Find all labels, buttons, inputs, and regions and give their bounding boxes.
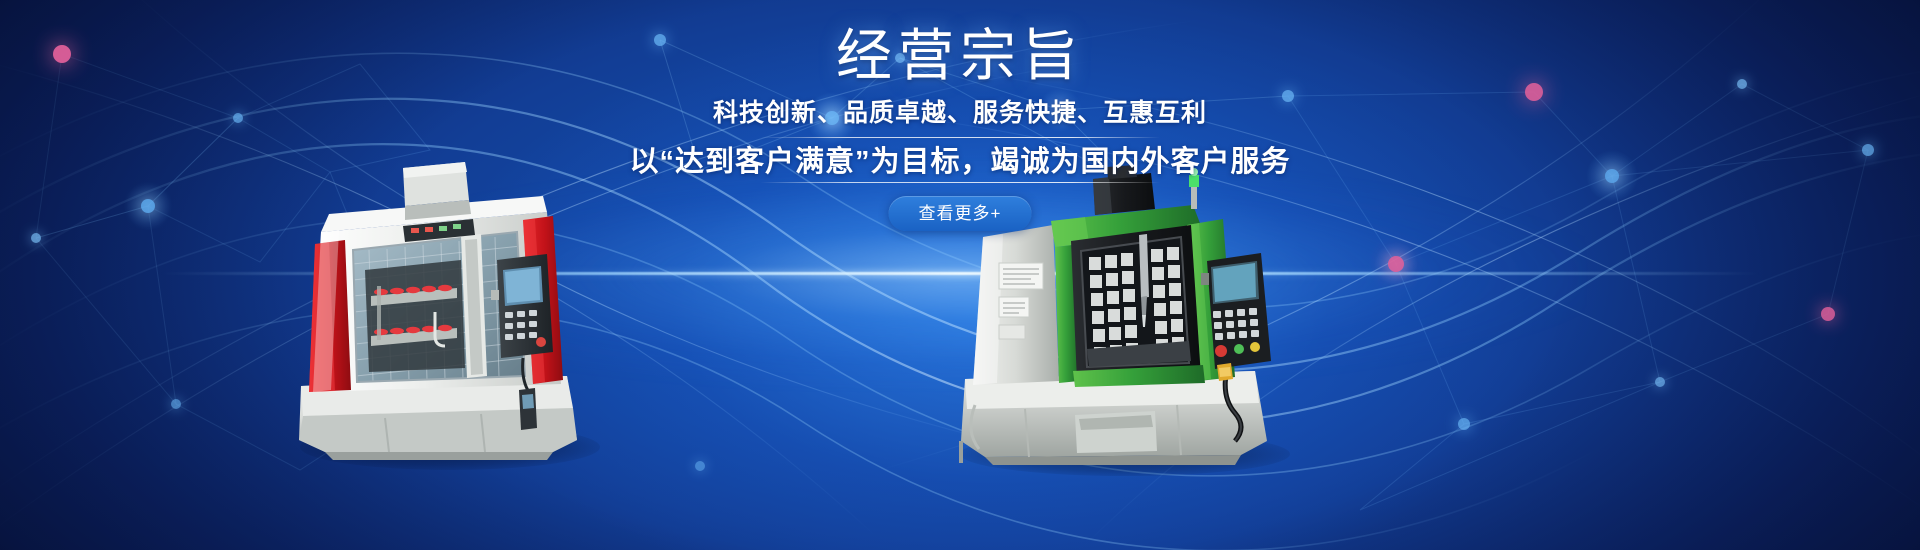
banner-tagline: 以“达到客户满意”为目标，竭诚为国内外客户服务 bbox=[629, 143, 1290, 181]
divider-bottom bbox=[760, 182, 1160, 183]
page-title: 经营宗旨 bbox=[836, 26, 1084, 86]
divider-top bbox=[760, 137, 1160, 138]
banner-text-block: 经营宗旨 科技创新、品质卓越、服务快捷、互惠互利 以“达到客户满意”为目标，竭诚… bbox=[0, 0, 1920, 550]
view-more-button[interactable]: 查看更多+ bbox=[889, 196, 1032, 231]
banner-subtitle: 科技创新、品质卓越、服务快捷、互惠互利 bbox=[713, 98, 1207, 128]
hero-banner: 经营宗旨 科技创新、品质卓越、服务快捷、互惠互利 以“达到客户满意”为目标，竭诚… bbox=[0, 0, 1920, 550]
